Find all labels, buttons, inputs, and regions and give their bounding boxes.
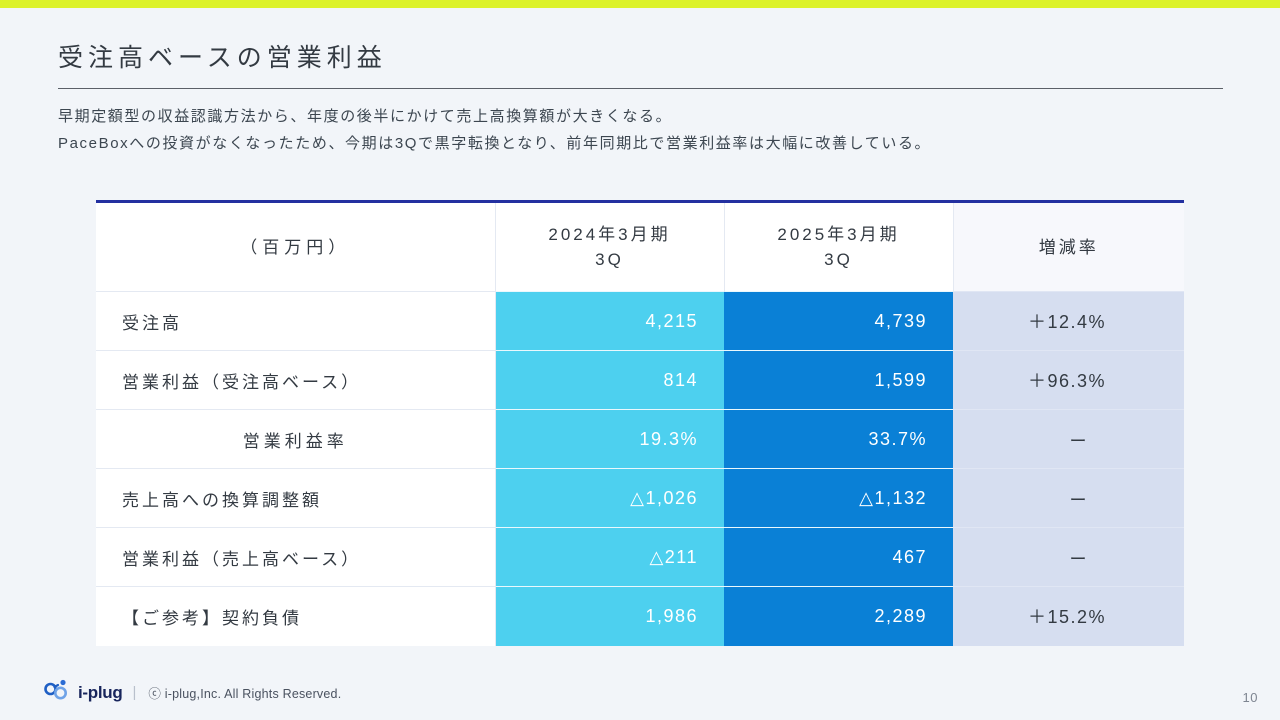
row-label: 営業利益率 <box>96 410 495 469</box>
row-label: 営業利益（売上高ベース） <box>96 528 495 587</box>
slide-root: 受注高ベースの営業利益 早期定額型の収益認識方法から、年度の後半にかけて売上高換… <box>0 0 1280 720</box>
row-label: 受注高 <box>96 292 495 351</box>
column-header-prev-period: 2024年3月期 3Q <box>495 203 724 292</box>
title-divider <box>58 88 1223 89</box>
column-header-current-period-line1: 2025年3月期 <box>777 225 899 244</box>
lead-paragraph: 早期定額型の収益認識方法から、年度の後半にかけて売上高換算額が大きくなる。 Pa… <box>58 103 1238 157</box>
lead-line-1: 早期定額型の収益認識方法から、年度の後半にかけて売上高換算額が大きくなる。 <box>58 103 1238 130</box>
cell-prev-period: △1,026 <box>495 469 724 528</box>
table-body: 受注高4,2154,739＋12.4%営業利益（受注高ベース）8141,599＋… <box>96 292 1184 646</box>
cell-change-rate: ＋12.4% <box>953 292 1184 351</box>
lead-line-2: PaceBoxへの投資がなくなったため、今期は3Qで黒字転換となり、前年同期比で… <box>58 130 1238 157</box>
row-label: 【ご参考】契約負債 <box>96 587 495 646</box>
cell-prev-period: 814 <box>495 351 724 410</box>
footer-divider: | <box>132 684 136 701</box>
cell-change-rate: ー <box>953 469 1184 528</box>
financial-table: （百万円） 2024年3月期 3Q 2025年3月期 3Q 増減率 受注高4,2… <box>96 203 1184 646</box>
row-label: 営業利益（受注高ベース） <box>96 351 495 410</box>
cell-current-period: 33.7% <box>724 410 953 469</box>
cell-change-rate: ＋15.2% <box>953 587 1184 646</box>
top-accent-bar <box>0 0 1280 8</box>
column-header-unit: （百万円） <box>96 203 495 292</box>
column-header-change-rate: 増減率 <box>953 203 1184 292</box>
column-header-prev-period-line1: 2024年3月期 <box>548 225 670 244</box>
cell-current-period: 4,739 <box>724 292 953 351</box>
table-header: （百万円） 2024年3月期 3Q 2025年3月期 3Q 増減率 <box>96 203 1184 292</box>
cell-current-period: 1,599 <box>724 351 953 410</box>
cell-prev-period: △211 <box>495 528 724 587</box>
cell-prev-period: 19.3% <box>495 410 724 469</box>
i-plug-logo-icon <box>44 679 70 706</box>
brand-wordmark: i-plug <box>78 683 122 703</box>
slide-footer: i-plug | ⓒ i-plug,Inc. All Rights Reserv… <box>0 672 1280 720</box>
cell-current-period: △1,132 <box>724 469 953 528</box>
brand-lockup: i-plug | ⓒ i-plug,Inc. All Rights Reserv… <box>44 679 341 706</box>
table-row: 売上高への換算調整額△1,026△1,132ー <box>96 469 1184 528</box>
financial-table-container: （百万円） 2024年3月期 3Q 2025年3月期 3Q 増減率 受注高4,2… <box>96 200 1184 646</box>
cell-current-period: 2,289 <box>724 587 953 646</box>
table-header-row: （百万円） 2024年3月期 3Q 2025年3月期 3Q 増減率 <box>96 203 1184 292</box>
cell-prev-period: 1,986 <box>495 587 724 646</box>
page-title: 受注高ベースの営業利益 <box>58 38 387 74</box>
row-label: 売上高への換算調整額 <box>96 469 495 528</box>
table-row: 受注高4,2154,739＋12.4% <box>96 292 1184 351</box>
column-header-current-period: 2025年3月期 3Q <box>724 203 953 292</box>
copyright-text: ⓒ i-plug,Inc. All Rights Reserved. <box>148 683 341 702</box>
column-header-current-period-line2: 3Q <box>824 250 853 269</box>
cell-current-period: 467 <box>724 528 953 587</box>
cell-prev-period: 4,215 <box>495 292 724 351</box>
table-row: 営業利益（受注高ベース）8141,599＋96.3% <box>96 351 1184 410</box>
cell-change-rate: ー <box>953 410 1184 469</box>
table-row: 【ご参考】契約負債1,9862,289＋15.2% <box>96 587 1184 646</box>
column-header-prev-period-line2: 3Q <box>595 250 624 269</box>
cell-change-rate: ー <box>953 528 1184 587</box>
cell-change-rate: ＋96.3% <box>953 351 1184 410</box>
table-row: 営業利益（売上高ベース）△211467ー <box>96 528 1184 587</box>
table-row: 営業利益率19.3%33.7%ー <box>96 410 1184 469</box>
page-number: 10 <box>1243 690 1258 705</box>
